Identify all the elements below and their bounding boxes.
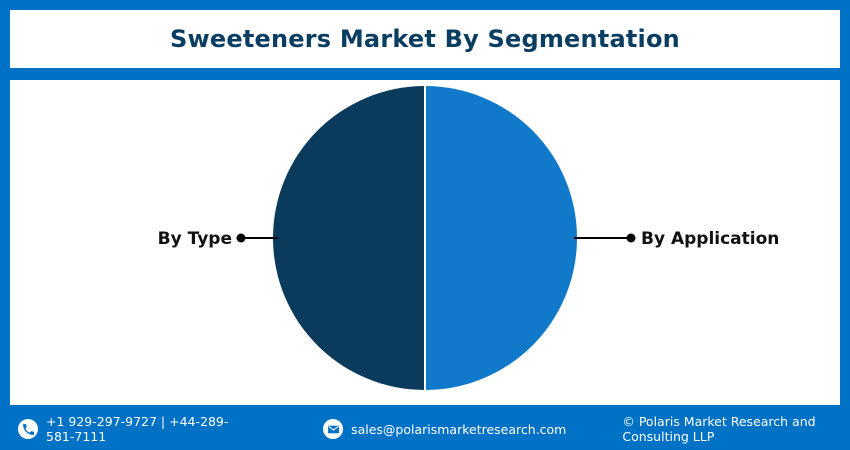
pie-slice-by-type[interactable] — [273, 86, 425, 390]
title-bar: Sweeteners Market By Segmentation — [10, 10, 840, 68]
leader-dot-right — [627, 234, 636, 243]
pie-label-by-type: By Type — [158, 229, 232, 249]
footer-phone-group: +1 929-297-9727 | +44-289-581-7111 — [18, 414, 231, 444]
page-title: Sweeteners Market By Segmentation — [170, 25, 680, 53]
chart-area: By Type By Application — [10, 80, 840, 405]
envelope-icon — [323, 419, 343, 439]
footer-email-text[interactable]: sales@polarismarketresearch.com — [351, 422, 566, 437]
leader-dot-left — [237, 234, 246, 243]
footer-bar: +1 929-297-9727 | +44-289-581-7111 sales… — [0, 408, 850, 450]
footer-copyright-group: © Polaris Market Research and Consulting… — [622, 414, 850, 444]
footer-phone-text: +1 929-297-9727 | +44-289-581-7111 — [46, 414, 231, 444]
footer-copyright-text: © Polaris Market Research and Consulting… — [622, 414, 850, 444]
pie-label-by-application: By Application — [641, 229, 779, 249]
pie-chart: By Type By Application — [10, 80, 840, 405]
pie-slice-by-application[interactable] — [425, 86, 577, 390]
phone-icon — [18, 419, 38, 439]
footer-email-group: sales@polarismarketresearch.com — [323, 419, 566, 439]
poster-frame: Sweeteners Market By Segmentation By Typ… — [0, 0, 850, 450]
